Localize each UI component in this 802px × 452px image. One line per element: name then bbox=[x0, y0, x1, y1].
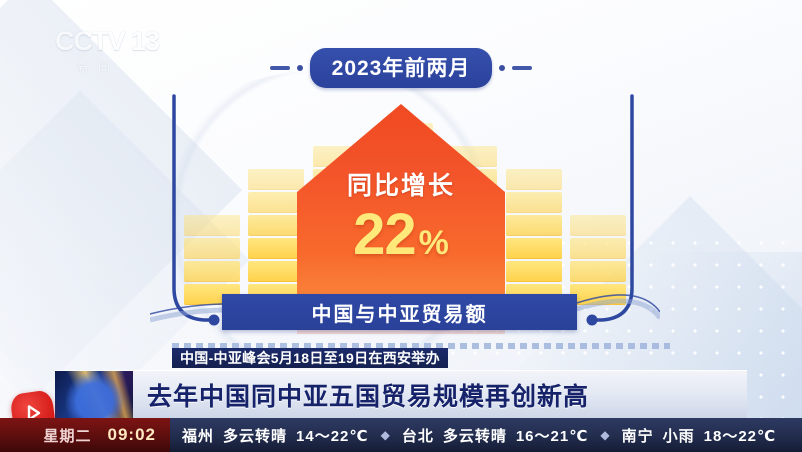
weather-temperature: 14～22℃ bbox=[296, 425, 369, 446]
bar-segment bbox=[248, 261, 304, 282]
bar-segment bbox=[248, 169, 304, 190]
weather-condition: 多云转晴 bbox=[223, 425, 287, 446]
broadcast-frame: CCTV 13 新闻 2023年前两月 bbox=[0, 0, 802, 452]
bar-segment bbox=[248, 238, 304, 259]
bar-segment bbox=[570, 215, 626, 236]
ticker-weather: 福州 多云转晴 14～22℃ ◆ 台北 多云转晴 16～21℃ ◆ 南宁 小雨 … bbox=[170, 418, 802, 452]
chart-caption-text: 中国与中亚贸易额 bbox=[312, 298, 488, 327]
bar-segment bbox=[184, 238, 240, 259]
growth-unit: % bbox=[419, 226, 449, 260]
bar-segment bbox=[506, 261, 562, 282]
dash-left-icon bbox=[270, 66, 290, 70]
bar-segment bbox=[506, 192, 562, 213]
globe-graphic-icon bbox=[55, 371, 133, 419]
weather-separator-icon: ◆ bbox=[598, 428, 611, 442]
bar-item bbox=[184, 215, 240, 305]
dot-left-icon bbox=[297, 65, 303, 71]
weather-item: 福州 多云转晴 14～22℃ bbox=[182, 425, 369, 446]
weather-condition: 多云转晴 bbox=[443, 425, 507, 446]
growth-value-group: 22 % bbox=[353, 206, 449, 264]
bar-segment bbox=[248, 192, 304, 213]
growth-arrow-label: 同比增长 bbox=[347, 166, 455, 202]
weather-temperature: 18～22℃ bbox=[704, 425, 777, 446]
kicker-bar: 中国-中亚峰会5月18日至19日在西安举办 bbox=[172, 348, 448, 368]
bar-item bbox=[506, 169, 562, 305]
bar-segment bbox=[506, 238, 562, 259]
ticker-clock: 星期二 09:02 bbox=[0, 418, 170, 452]
dash-right-icon bbox=[512, 66, 532, 70]
bar-item bbox=[248, 169, 304, 305]
growth-value: 22 bbox=[353, 206, 416, 264]
kicker-container: 中国-中亚峰会5月18日至19日在西安举办 bbox=[110, 343, 670, 368]
bar-segment bbox=[184, 215, 240, 236]
weather-temperature: 16～21℃ bbox=[516, 425, 589, 446]
globe-swoosh bbox=[55, 371, 133, 419]
bar-segment bbox=[570, 261, 626, 282]
bar-segment bbox=[506, 169, 562, 190]
ticker-day: 星期二 bbox=[44, 425, 92, 446]
chart-caption-box: 中国与中亚贸易额 bbox=[222, 294, 577, 330]
headline-text: 去年中国同中亚五国贸易规模再创新高 bbox=[133, 377, 747, 413]
bottom-ticker: 星期二 09:02 福州 多云转晴 14～22℃ ◆ 台北 多云转晴 16～21… bbox=[0, 418, 802, 452]
weather-item: 南宁 小雨 18～22℃ bbox=[622, 425, 777, 446]
weather-item: 台北 多云转晴 16～21℃ bbox=[402, 425, 589, 446]
bar-segment bbox=[248, 215, 304, 236]
bar-segment bbox=[184, 261, 240, 282]
bar-segment bbox=[570, 238, 626, 259]
title-row: 2023年前两月 bbox=[0, 48, 802, 88]
bar-item bbox=[570, 215, 626, 305]
period-title-pill: 2023年前两月 bbox=[310, 48, 493, 88]
kicker-text: 中国-中亚峰会5月18日至19日在西安举办 bbox=[180, 348, 440, 368]
weather-city: 台北 bbox=[402, 425, 434, 446]
weather-separator-icon: ◆ bbox=[379, 428, 392, 442]
dot-right-icon bbox=[499, 65, 505, 71]
bar-segment bbox=[506, 215, 562, 236]
weather-city: 福州 bbox=[182, 425, 214, 446]
period-title-text: 2023年前两月 bbox=[332, 57, 471, 80]
ticker-time: 09:02 bbox=[108, 425, 156, 445]
headline-bar: 去年中国同中亚五国贸易规模再创新高 bbox=[55, 370, 747, 418]
weather-city: 南宁 bbox=[622, 425, 654, 446]
weather-condition: 小雨 bbox=[663, 425, 695, 446]
